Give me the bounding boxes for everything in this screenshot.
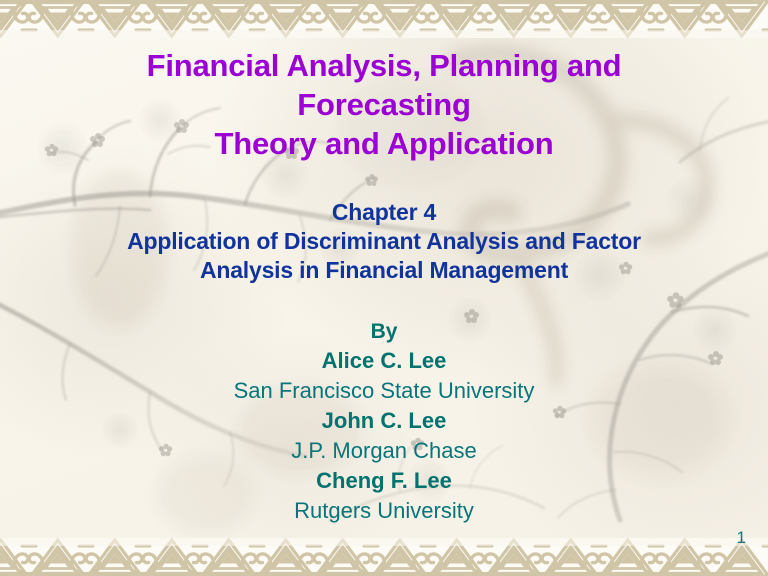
title-line-1: Financial Analysis, Planning and bbox=[0, 46, 768, 85]
author-list: By Alice C. Lee San Francisco State Univ… bbox=[0, 318, 768, 526]
chapter-number: Chapter 4 bbox=[0, 198, 768, 227]
author-name-2: John C. Lee bbox=[0, 406, 768, 436]
chapter-title-line-2: Analysis in Financial Management bbox=[0, 256, 768, 285]
author-name-3: Cheng F. Lee bbox=[0, 466, 768, 496]
decorative-border-top bbox=[0, 0, 768, 38]
author-affiliation-3: Rutgers University bbox=[0, 496, 768, 526]
greek-key-triangle-spiral-band bbox=[0, 0, 768, 38]
greek-key-triangle-spiral-band bbox=[0, 538, 768, 576]
chapter-subtitle: Chapter 4 Application of Discriminant An… bbox=[0, 198, 768, 285]
presentation-slide: Financial Analysis, Planning and Forecas… bbox=[0, 0, 768, 576]
author-name-1: Alice C. Lee bbox=[0, 346, 768, 376]
author-affiliation-2: J.P. Morgan Chase bbox=[0, 436, 768, 466]
byline-label: By bbox=[0, 318, 768, 346]
slide-title: Financial Analysis, Planning and Forecas… bbox=[0, 46, 768, 163]
title-line-2: Forecasting bbox=[0, 85, 768, 124]
chapter-title-line-1: Application of Discriminant Analysis and… bbox=[0, 227, 768, 256]
author-affiliation-1: San Francisco State University bbox=[0, 376, 768, 406]
title-line-3: Theory and Application bbox=[0, 124, 768, 163]
decorative-border-bottom bbox=[0, 538, 768, 576]
page-number: 1 bbox=[737, 528, 746, 548]
